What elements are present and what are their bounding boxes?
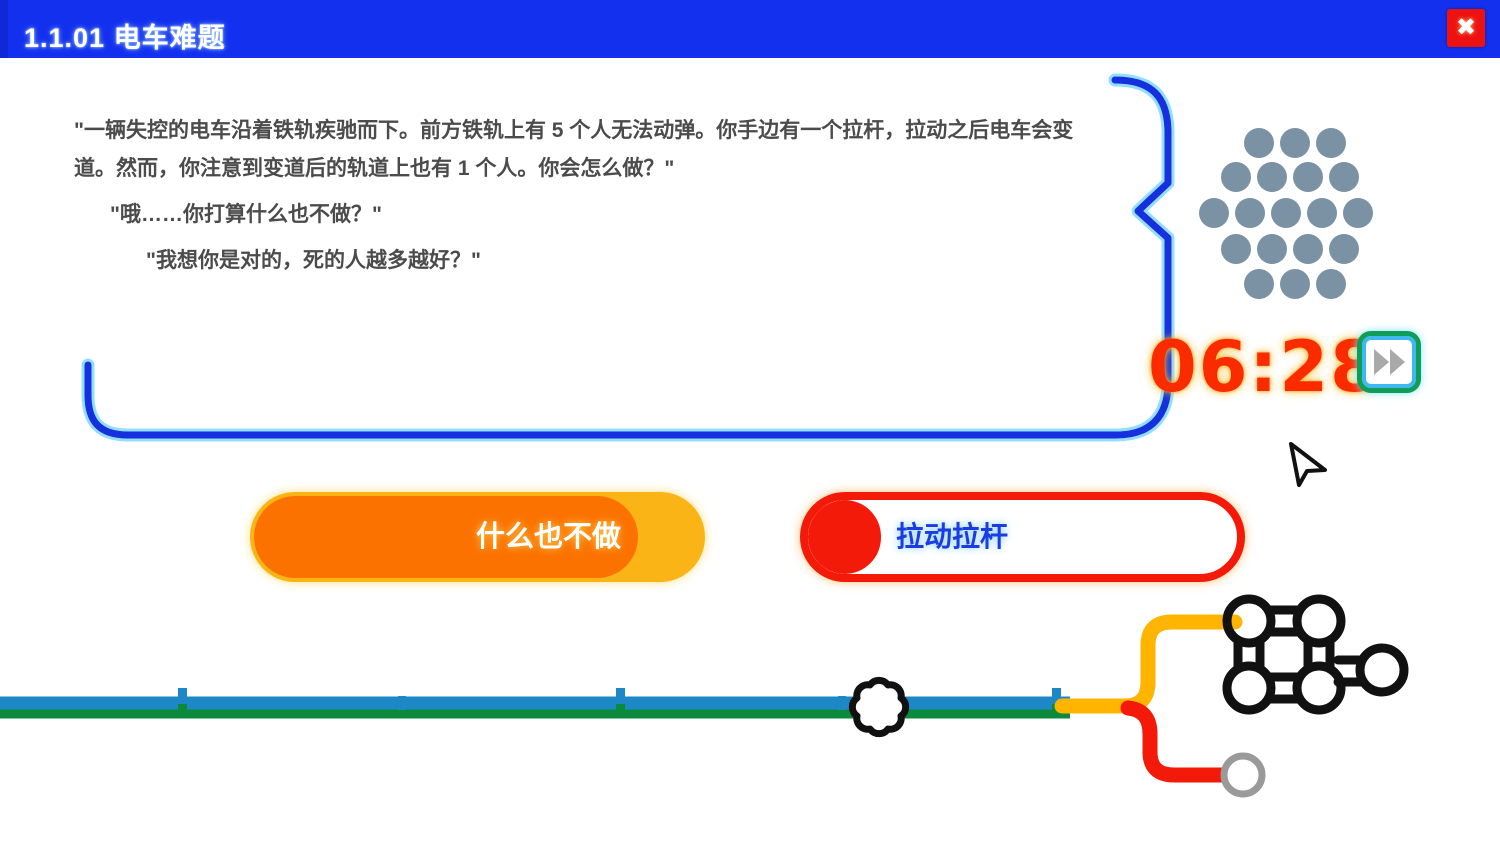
- crowd-dot: [1343, 198, 1373, 228]
- crowd-dot: [1271, 198, 1301, 228]
- scenario-text: "一辆失控的电车沿着铁轨疾驰而下。前方铁轨上有 5 个人无法动弹。你手边有一个拉…: [74, 112, 1094, 280]
- fast-forward-triangle-1: [1374, 349, 1389, 375]
- crowd-dot: [1199, 198, 1229, 228]
- title-bar-accent: [0, 0, 8, 58]
- close-button[interactable]: ✖: [1447, 9, 1485, 47]
- one-person-icon: [1224, 756, 1262, 794]
- crowd-dot: [1221, 162, 1251, 192]
- rail-diagram: [0, 570, 1500, 830]
- five-people-icon: [1227, 599, 1404, 710]
- crowd-dot: [1221, 234, 1251, 264]
- page-title: 1.1.01 电车难题: [24, 16, 226, 55]
- crowd-dot-cluster: [1196, 126, 1376, 296]
- crowd-dot: [1280, 128, 1310, 158]
- crowd-dot: [1293, 234, 1323, 264]
- crowd-dot: [1244, 128, 1274, 158]
- scenario-paragraph-3: "我想你是对的，死的人越多越好？": [146, 242, 1094, 280]
- crowd-dot: [1244, 269, 1274, 299]
- countdown-timer: 06:28: [1148, 326, 1381, 408]
- fast-forward-icon: [1362, 336, 1416, 388]
- choice-button-do-nothing[interactable]: 什么也不做: [250, 492, 705, 582]
- crowd-dot: [1235, 198, 1265, 228]
- crowd-dot: [1316, 128, 1346, 158]
- crowd-dot: [1329, 162, 1359, 192]
- crowd-dot: [1329, 234, 1359, 264]
- crowd-dot: [1293, 162, 1323, 192]
- fast-forward-triangle-2: [1390, 349, 1405, 375]
- branch-lower-red: [1128, 708, 1230, 775]
- game-screen: 1.1.01 电车难题 ✖ "一辆失控的电车沿着铁轨疾驰而下。前方铁轨上有 5 …: [0, 0, 1500, 843]
- scenario-paragraph-2: "哦……你打算什么也不做？": [110, 196, 1094, 234]
- branch-upper-orange: [1062, 622, 1235, 706]
- crowd-dot: [1316, 269, 1346, 299]
- scenario-paragraph-1: "一辆失控的电车沿着铁轨疾驰而下。前方铁轨上有 5 个人无法动弹。你手边有一个拉…: [74, 112, 1094, 188]
- choice-fill-pull-lever: [808, 500, 881, 574]
- crowd-dot: [1280, 269, 1310, 299]
- choice-button-pull-lever[interactable]: 拉动拉杆: [800, 492, 1245, 582]
- title-bar: 1.1.01 电车难题 ✖: [0, 0, 1500, 58]
- crowd-dot: [1257, 234, 1287, 264]
- arrow-cursor-icon: [1285, 440, 1329, 490]
- crowd-dot: [1307, 198, 1337, 228]
- trolley-marker-icon: [852, 680, 905, 733]
- choice-label-pull-lever: 拉动拉杆: [896, 500, 1008, 574]
- main-track: [0, 688, 1070, 714]
- choice-label-do-nothing: 什么也不做: [476, 496, 621, 578]
- fast-forward-button[interactable]: [1357, 331, 1421, 393]
- close-icon: ✖: [1447, 9, 1485, 47]
- crowd-dot: [1257, 162, 1287, 192]
